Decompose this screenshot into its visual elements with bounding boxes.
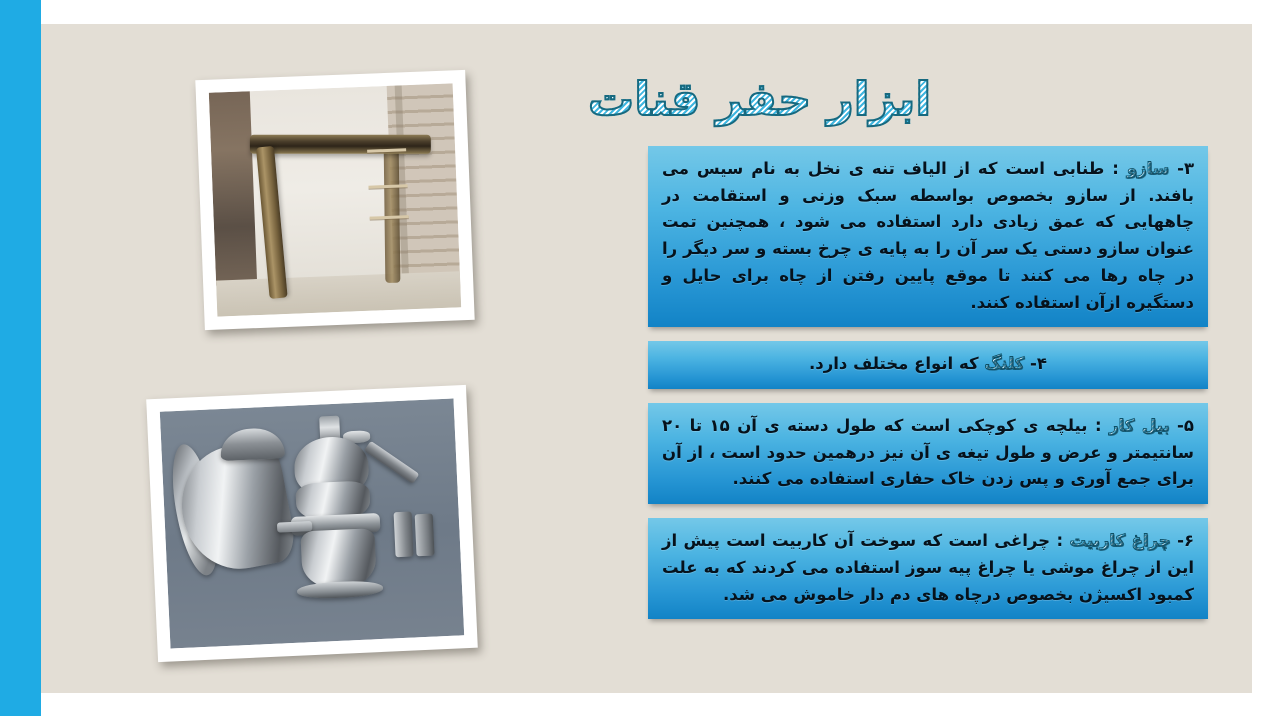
lamp-support-arm	[364, 440, 419, 483]
lamp-gas-tube	[277, 521, 313, 532]
content-block-bil-kar-text: ۵- بیل کار : بیلچه ی کوچکی است که طول دس…	[662, 413, 1194, 493]
photo-windlass	[195, 70, 474, 330]
content-block-cheragh-karbit-text: ۶- چراغ کاربیت : چراغی است که سوخت آن کا…	[662, 528, 1194, 608]
lamp-handle	[219, 427, 285, 461]
item-body-3: طنابی است که از الیاف تنه ی نخل به نام س…	[662, 159, 1194, 312]
content-block-sazu[interactable]: ۳- سازو : طنابی است که از الیاف تنه ی نخ…	[648, 146, 1208, 327]
slide-title-container: ابزار حفر قنات	[588, 74, 1208, 125]
windlass-post-right	[383, 140, 399, 284]
item-term-kolang: کلنگ	[984, 354, 1024, 373]
windlass-post-left	[256, 146, 288, 299]
slide-canvas: ابزار حفر قنات	[0, 0, 1280, 720]
content-block-kolang-text: ۴- کلنگ که انواع مختلف دارد.	[662, 351, 1194, 378]
page-title: ابزار حفر قنات	[588, 74, 931, 125]
content-block-sazu-text: ۳- سازو : طنابی است که از الیاف تنه ی نخ…	[662, 156, 1194, 316]
content-block-cheragh-karbit[interactable]: ۶- چراغ کاربیت : چراغی است که سوخت آن کا…	[648, 518, 1208, 619]
content-block-bil-kar[interactable]: ۵- بیل کار : بیلچه ی کوچکی است که طول دس…	[648, 403, 1208, 504]
photo-carbide-lamp	[146, 385, 478, 662]
item-number-3: ۳-	[1177, 159, 1194, 178]
wall-shadow-left	[209, 91, 258, 285]
item-separator-5: :	[1095, 416, 1102, 435]
photo-windlass-image	[209, 83, 461, 316]
carbide-lamp-scene	[160, 398, 464, 648]
lamp-foot	[297, 580, 383, 600]
windlass-scene	[209, 83, 461, 316]
item-term-bil-kar: بیل کار	[1109, 416, 1169, 435]
item-number-4: ۴-	[1030, 354, 1047, 373]
lamp-mounting-clip-inner	[415, 513, 435, 556]
item-number-6: ۶-	[1177, 531, 1194, 550]
photo-carbide-lamp-image	[160, 398, 464, 648]
content-block-list: ۳- سازو : طنابی است که از الیاف تنه ی نخ…	[648, 146, 1208, 633]
item-number-5: ۵-	[1177, 416, 1194, 435]
content-block-kolang[interactable]: ۴- کلنگ که انواع مختلف دارد.	[648, 341, 1208, 389]
item-separator-3: :	[1112, 159, 1119, 178]
item-term-sazu: سازو	[1127, 159, 1169, 178]
item-separator-6: :	[1056, 531, 1063, 550]
item-term-cheragh-karbit: چراغ کاربیت	[1069, 531, 1170, 550]
lamp-mounting-clip-outer	[394, 512, 414, 558]
left-accent-bar	[0, 0, 41, 716]
item-body-4: که انواع مختلف دارد.	[809, 354, 979, 373]
